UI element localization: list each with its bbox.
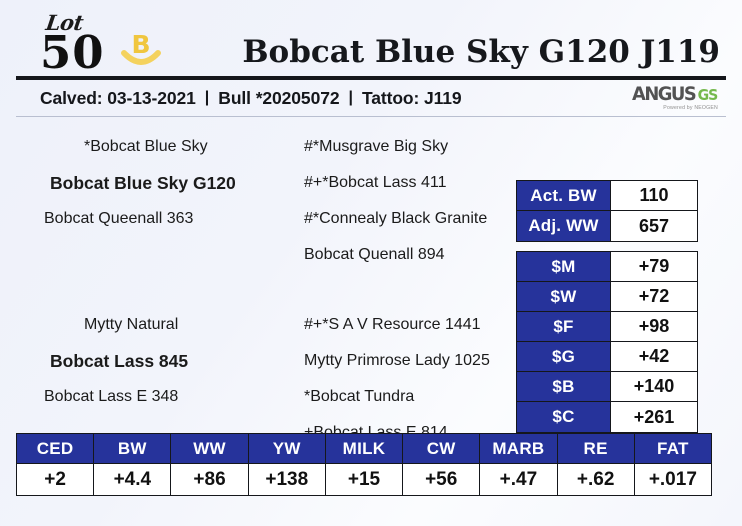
pedigree-right: *Bobcat Tundra (304, 388, 544, 406)
registration-number: Bull *20205072 (218, 88, 339, 109)
table-row: Adj. WW 657 (517, 211, 697, 241)
row-value: +79 (611, 252, 697, 281)
epd-header-cell: MARB (480, 434, 557, 463)
lot-number: 50 (40, 31, 105, 74)
epd-value-cell: +56 (403, 464, 480, 495)
lot-page: Lot 50 B Bobcat Blue Sky G120 J119 Calve… (0, 0, 742, 526)
pedigree-right: #+*Bobcat Lass 411 (304, 174, 544, 192)
logo-gs-text: GS (698, 88, 717, 103)
table-row: Act. BW 110 (517, 181, 697, 211)
info-separator-2: | (339, 89, 361, 107)
lot-identifier: Lot 50 (40, 12, 105, 76)
row-label: $C (517, 402, 611, 432)
row-label: $B (517, 372, 611, 401)
row-label: Adj. WW (517, 211, 611, 241)
epd-header-row: CED BW WW YW MILK CW MARB RE FAT (17, 434, 711, 464)
pedigree-left: *Bobcat Blue Sky (14, 138, 304, 156)
row-label: Act. BW (517, 181, 611, 210)
pedigree-left: Bobcat Blue Sky G120 (14, 173, 304, 194)
epd-header-cell: MILK (326, 434, 403, 463)
epd-header-cell: FAT (635, 434, 711, 463)
epd-table: CED BW WW YW MILK CW MARB RE FAT +2 +4.4… (16, 433, 712, 496)
epd-value-row: +2 +4.4 +86 +138 +15 +56 +.47 +.62 +.017 (17, 464, 711, 495)
svg-text:B: B (131, 30, 150, 59)
row-value: +261 (611, 402, 697, 432)
row-label: $M (517, 252, 611, 281)
row-value: +42 (611, 342, 697, 371)
pedigree-row: *Bobcat Blue Sky #*Musgrave Big Sky (14, 129, 728, 165)
epd-value-cell: +4.4 (94, 464, 171, 495)
pedigree-left: Bobcat Queenall 363 (14, 210, 304, 228)
table-row: $W +72 (517, 282, 697, 312)
dollar-value-group: $M +79 $W +72 $F +98 $G +42 $B +140 (516, 251, 698, 433)
epd-value-cell: +138 (249, 464, 326, 495)
epd-header-cell: WW (171, 434, 248, 463)
table-row: $B +140 (517, 372, 697, 402)
bobcat-b-emblem-icon: B (118, 26, 164, 72)
pedigree-right: #+*S A V Resource 1441 (304, 316, 544, 334)
title-container: Bobcat Blue Sky G120 J119 (164, 34, 724, 76)
epd-header-cell: BW (94, 434, 171, 463)
measurement-group: Act. BW 110 Adj. WW 657 (516, 180, 698, 242)
header: Lot 50 B Bobcat Blue Sky G120 J119 (14, 0, 728, 76)
pedigree-section: *Bobcat Blue Sky #*Musgrave Big Sky Bobc… (14, 117, 728, 429)
row-value: +98 (611, 312, 697, 341)
table-row: $F +98 (517, 312, 697, 342)
table-row: $G +42 (517, 342, 697, 372)
row-value: +72 (611, 282, 697, 311)
row-value: +140 (611, 372, 697, 401)
pedigree-left: Bobcat Lass 845 (14, 351, 304, 372)
epd-header-cell: CED (17, 434, 94, 463)
epd-value-cell: +.47 (480, 464, 557, 495)
row-label: $G (517, 342, 611, 371)
logo-angus-text: ANGUS (632, 85, 695, 104)
epd-value-cell: +2 (17, 464, 94, 495)
epd-value-cell: +15 (326, 464, 403, 495)
row-value: 657 (611, 211, 697, 241)
index-values-table: Act. BW 110 Adj. WW 657 $M +79 $W +72 (516, 180, 698, 433)
tattoo-number: Tattoo: J119 (362, 88, 462, 109)
pedigree-right: Mytty Primrose Lady 1025 (304, 352, 544, 370)
epd-header-cell: CW (403, 434, 480, 463)
row-value: 110 (611, 181, 697, 210)
epd-header-cell: RE (558, 434, 635, 463)
info-separator-1: | (196, 89, 218, 107)
calved-date: Calved: 03-13-2021 (40, 88, 196, 109)
row-label: $F (517, 312, 611, 341)
animal-info-bar: Calved: 03-13-2021 | Bull *20205072 | Ta… (14, 80, 728, 116)
row-label: $W (517, 282, 611, 311)
pedigree-left: Mytty Natural (14, 316, 304, 334)
epd-value-cell: +.017 (635, 464, 711, 495)
pedigree-right: #*Connealy Black Granite (304, 210, 544, 228)
pedigree-right: #*Musgrave Big Sky (304, 138, 544, 156)
angus-gs-logo: ANGUSGS Powered by NEOGEN (630, 85, 724, 111)
lot-word: Lot (45, 12, 85, 33)
epd-value-cell: +.62 (558, 464, 635, 495)
pedigree-left: Bobcat Lass E 348 (14, 388, 304, 406)
table-row: $C +261 (517, 402, 697, 432)
page-title: Bobcat Blue Sky G120 J119 (164, 34, 720, 70)
logo-tagline: Powered by NEOGEN (630, 106, 718, 111)
epd-value-cell: +86 (171, 464, 248, 495)
epd-header-cell: YW (249, 434, 326, 463)
pedigree-right: Bobcat Quenall 894 (304, 246, 544, 264)
table-row: $M +79 (517, 252, 697, 282)
